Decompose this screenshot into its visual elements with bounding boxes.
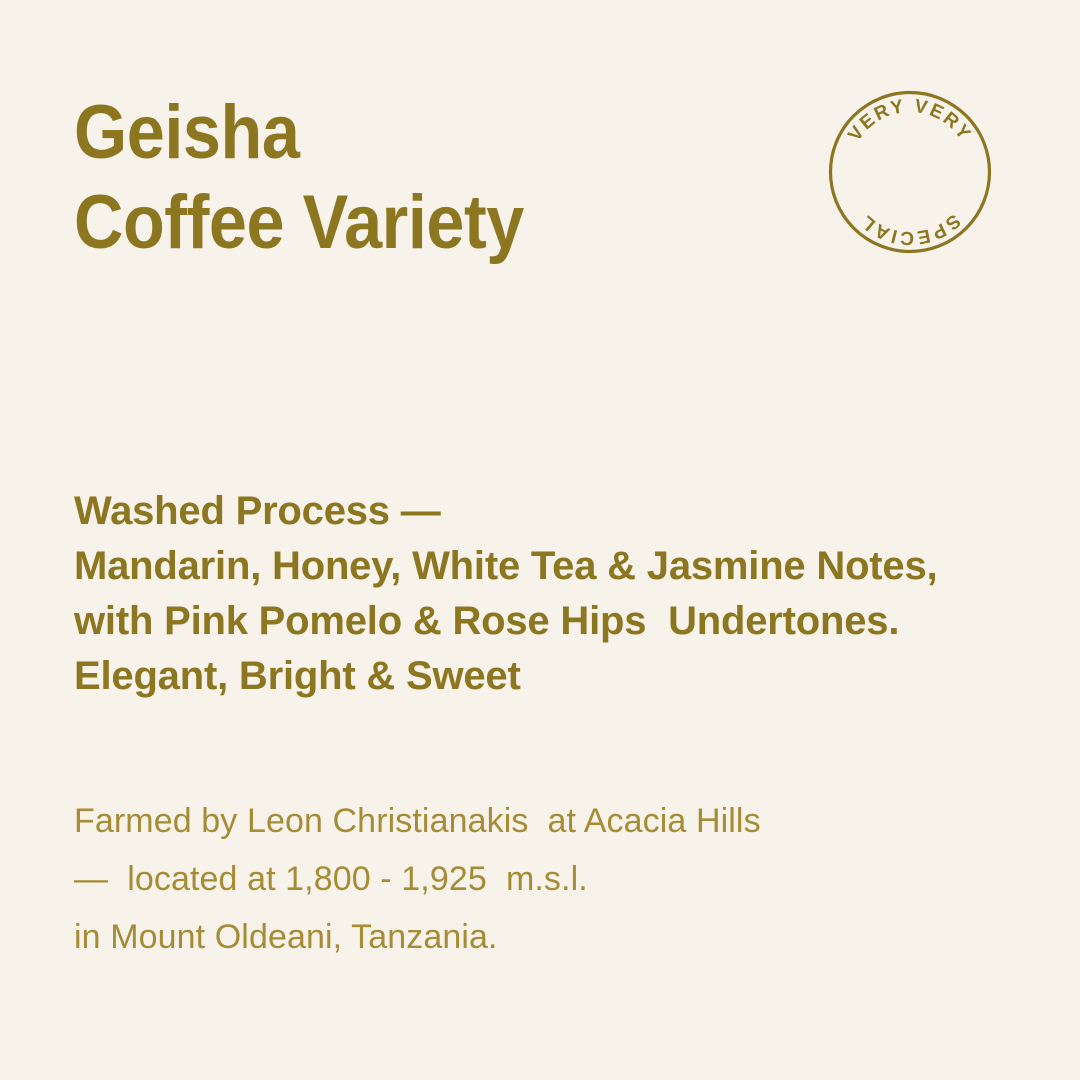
origin-line-location: in Mount Oldeani, Tanzania. — [74, 908, 974, 966]
page-title-line-2: Coffee Variety — [74, 178, 722, 268]
very-very-special-badge: VERY VERY SPECIAL — [828, 90, 992, 254]
tasting-notes-block: Washed Process — Mandarin, Honey, White … — [74, 484, 1014, 704]
tasting-notes-line-3: with Pink Pomelo & Rose Hips Undertones. — [74, 594, 1014, 649]
coffee-variety-card: Geisha Coffee Variety VERY VERY SPECIAL … — [0, 0, 1080, 1080]
origin-line-farmer: Farmed by Leon Christianakis at Acacia H… — [74, 792, 974, 850]
origin-line-altitude: — located at 1,800 - 1,925 m.s.l. — [74, 850, 974, 908]
page-title-line-1: Geisha — [74, 88, 722, 178]
badge-top-text: VERY VERY — [844, 96, 975, 145]
tasting-notes-line-4: Elegant, Bright & Sweet — [74, 649, 1014, 704]
origin-block: Farmed by Leon Christianakis at Acacia H… — [74, 792, 974, 966]
tasting-notes-line-1: Washed Process — — [74, 484, 1014, 539]
tasting-notes-line-2: Mandarin, Honey, White Tea & Jasmine Not… — [74, 539, 1014, 594]
page-title: Geisha Coffee Variety — [74, 88, 794, 268]
